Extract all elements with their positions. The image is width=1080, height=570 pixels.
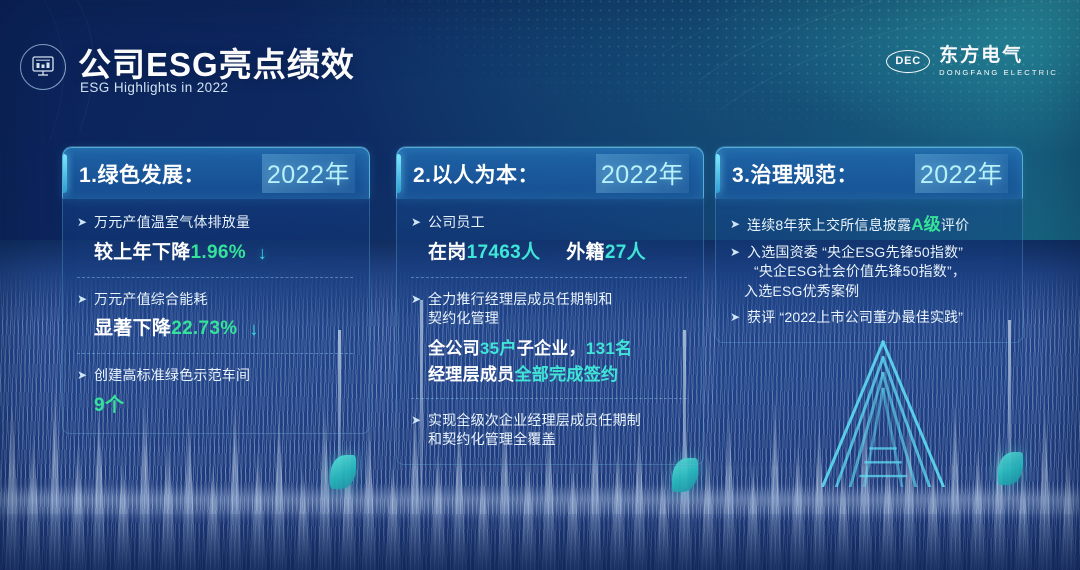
item-label: 获评 “2022上市公司董办最佳实践”: [747, 308, 963, 328]
manager-count: 131名: [586, 336, 633, 361]
list-item: ➤ 创建高标准绿色示范车间 9个: [77, 353, 353, 419]
subsidiary-count: 35户: [480, 336, 517, 361]
list-item: ➤ 全力推行经理层成员任期制和 契约化管理 全公司 35户 子企业， 131名 …: [411, 277, 687, 387]
foreground-shadow: [0, 514, 1080, 570]
item-label: 万元产值温室气体排放量: [94, 213, 250, 233]
list-item: ➤ 万元产值综合能耗 显著下降 22.73% ↓: [77, 277, 353, 343]
card-green-development: 1.绿色发展： 2022年 ➤ 万元产值温室气体排放量 较上年下降 1.96% …: [62, 146, 370, 446]
arrow-down-icon: ↓: [249, 320, 258, 338]
page-title: 公司ESG亮点绩效: [78, 38, 355, 86]
card-title: 3.治理规范：: [732, 159, 858, 189]
card-header: 3.治理规范： 2022年: [715, 147, 1023, 199]
card-governance: 3.治理规范： 2022年 ➤ 连续8年获上交所信息披露A级评价 ➤ 入选国资委…: [715, 146, 1023, 466]
card-body: ➤ 万元产值温室气体排放量 较上年下降 1.96% ↓ ➤ 万元产值综合能耗: [62, 199, 370, 434]
metric-value: 9个: [94, 393, 124, 419]
item-label-cont: 契约化管理: [428, 309, 687, 329]
card-header: 1.绿色发展： 2022年: [62, 147, 370, 199]
chevron-bullet-icon: ➤: [411, 213, 424, 232]
employee-foreign-value: 27人: [605, 240, 646, 266]
item-metric: 9个: [94, 393, 353, 419]
employee-onsite-value: 17463人: [467, 240, 541, 266]
arrow-down-icon: ↓: [258, 244, 267, 262]
item-metric: 显著下降 22.73% ↓: [94, 316, 353, 342]
monitor-chart-icon: [20, 44, 66, 90]
metric-prefix: 较上年下降: [94, 240, 191, 266]
card-title: 2.以人为本：: [413, 159, 539, 189]
chevron-bullet-icon: ➤: [77, 366, 90, 385]
snow-ridge: [0, 484, 1080, 518]
employee-foreign-label: 外籍: [566, 240, 605, 266]
item-metric-line2: 经理层成员 全部完成签约: [428, 362, 687, 387]
item-label: 全力推行经理层成员任期制和: [428, 290, 613, 310]
list-item: ➤ 获评 “2022上市公司董办最佳实践”: [730, 308, 1006, 328]
list-item: ➤ 公司员工 在岗 17463人 外籍 27人: [411, 213, 687, 266]
item-label: 实现全级次企业经理层成员任期制: [428, 411, 641, 431]
manager-label: 经理层成员: [428, 362, 515, 387]
card-people-oriented: 2.以人为本： 2022年 ➤ 公司员工 在岗 17463人 外籍 27人: [396, 146, 704, 466]
card-year-badge: 2022年: [596, 154, 689, 193]
item-label: 连续8年获上交所信息披露A级评价: [747, 215, 969, 236]
chevron-bullet-icon: ➤: [411, 290, 424, 309]
subsidiary-prefix: 全公司: [428, 336, 480, 361]
item-label: 创建高标准绿色示范车间: [94, 366, 250, 386]
card-body: ➤ 公司员工 在岗 17463人 外籍 27人 ➤ 全力推行经理层成员任期制和: [396, 199, 704, 465]
company-name-en: DONGFANG ELECTRIC: [939, 68, 1058, 77]
letter-a-logo-icon: [815, 337, 953, 487]
chevron-bullet-icon: ➤: [77, 213, 90, 232]
item-metric: 在岗 17463人 外籍 27人: [428, 240, 687, 266]
item-label: 入选国资委 “央企ESG先锋50指数”: [747, 243, 963, 263]
card-body: ➤ 连续8年获上交所信息披露A级评价 ➤ 入选国资委 “央企ESG先锋50指数”…: [715, 199, 1023, 343]
item-metric-line1: 全公司 35户 子企业， 131名: [428, 336, 687, 361]
metric-value: 22.73%: [171, 316, 237, 342]
employee-onsite-label: 在岗: [428, 240, 467, 266]
metrics-card-row: 1.绿色发展： 2022年 ➤ 万元产值温室气体排放量 较上年下降 1.96% …: [0, 146, 1080, 476]
subsidiary-mid: 子企业，: [517, 336, 586, 361]
metric-value: 1.96%: [191, 240, 246, 266]
item-metric: 较上年下降 1.96% ↓: [94, 240, 353, 266]
item-label: 万元产值综合能耗: [94, 290, 208, 310]
card-header: 2.以人为本： 2022年: [396, 147, 704, 199]
chevron-bullet-icon: ➤: [411, 411, 424, 430]
list-item: ➤ 入选国资委 “央企ESG先锋50指数” “央企ESG社会价值先锋50指数”，…: [730, 243, 1006, 302]
page-subtitle: ESG Highlights in 2022: [80, 80, 228, 95]
card-year-badge: 2022年: [915, 154, 1008, 193]
chevron-bullet-icon: ➤: [730, 215, 743, 234]
list-item: ➤ 连续8年获上交所信息披露A级评价: [730, 215, 1006, 236]
item-label: 公司员工: [428, 213, 485, 233]
rating-badge: A级: [911, 215, 941, 234]
list-item: ➤ 实现全级次企业经理层成员任期制 和契约化管理全覆盖: [411, 398, 687, 450]
chevron-bullet-icon: ➤: [730, 243, 743, 262]
card-title: 1.绿色发展：: [79, 159, 205, 189]
company-name-cn: 东方电气: [939, 46, 1058, 66]
chevron-bullet-icon: ➤: [730, 308, 743, 327]
item-label-cont-2: 入选ESG优秀案例: [744, 282, 1006, 302]
dec-monogram: DEC: [886, 50, 930, 73]
signing-status: 全部完成签约: [515, 362, 619, 387]
item-label-cont-1: “央企ESG社会价值先锋50指数”，: [754, 262, 1006, 282]
metric-prefix: 显著下降: [94, 316, 171, 342]
list-item: ➤ 万元产值温室气体排放量 较上年下降 1.96% ↓: [77, 213, 353, 266]
slide-canvas: 公司ESG亮点绩效 ESG Highlights in 2022 DEC 东方电…: [0, 0, 1080, 570]
chevron-bullet-icon: ➤: [77, 290, 90, 309]
card-year-badge: 2022年: [262, 154, 355, 193]
slide-header: 公司ESG亮点绩效 ESG Highlights in 2022 DEC 东方电…: [0, 0, 1080, 120]
company-logo: DEC 东方电气 DONGFANG ELECTRIC: [886, 46, 1058, 77]
item-label-cont: 和契约化管理全覆盖: [428, 430, 687, 450]
